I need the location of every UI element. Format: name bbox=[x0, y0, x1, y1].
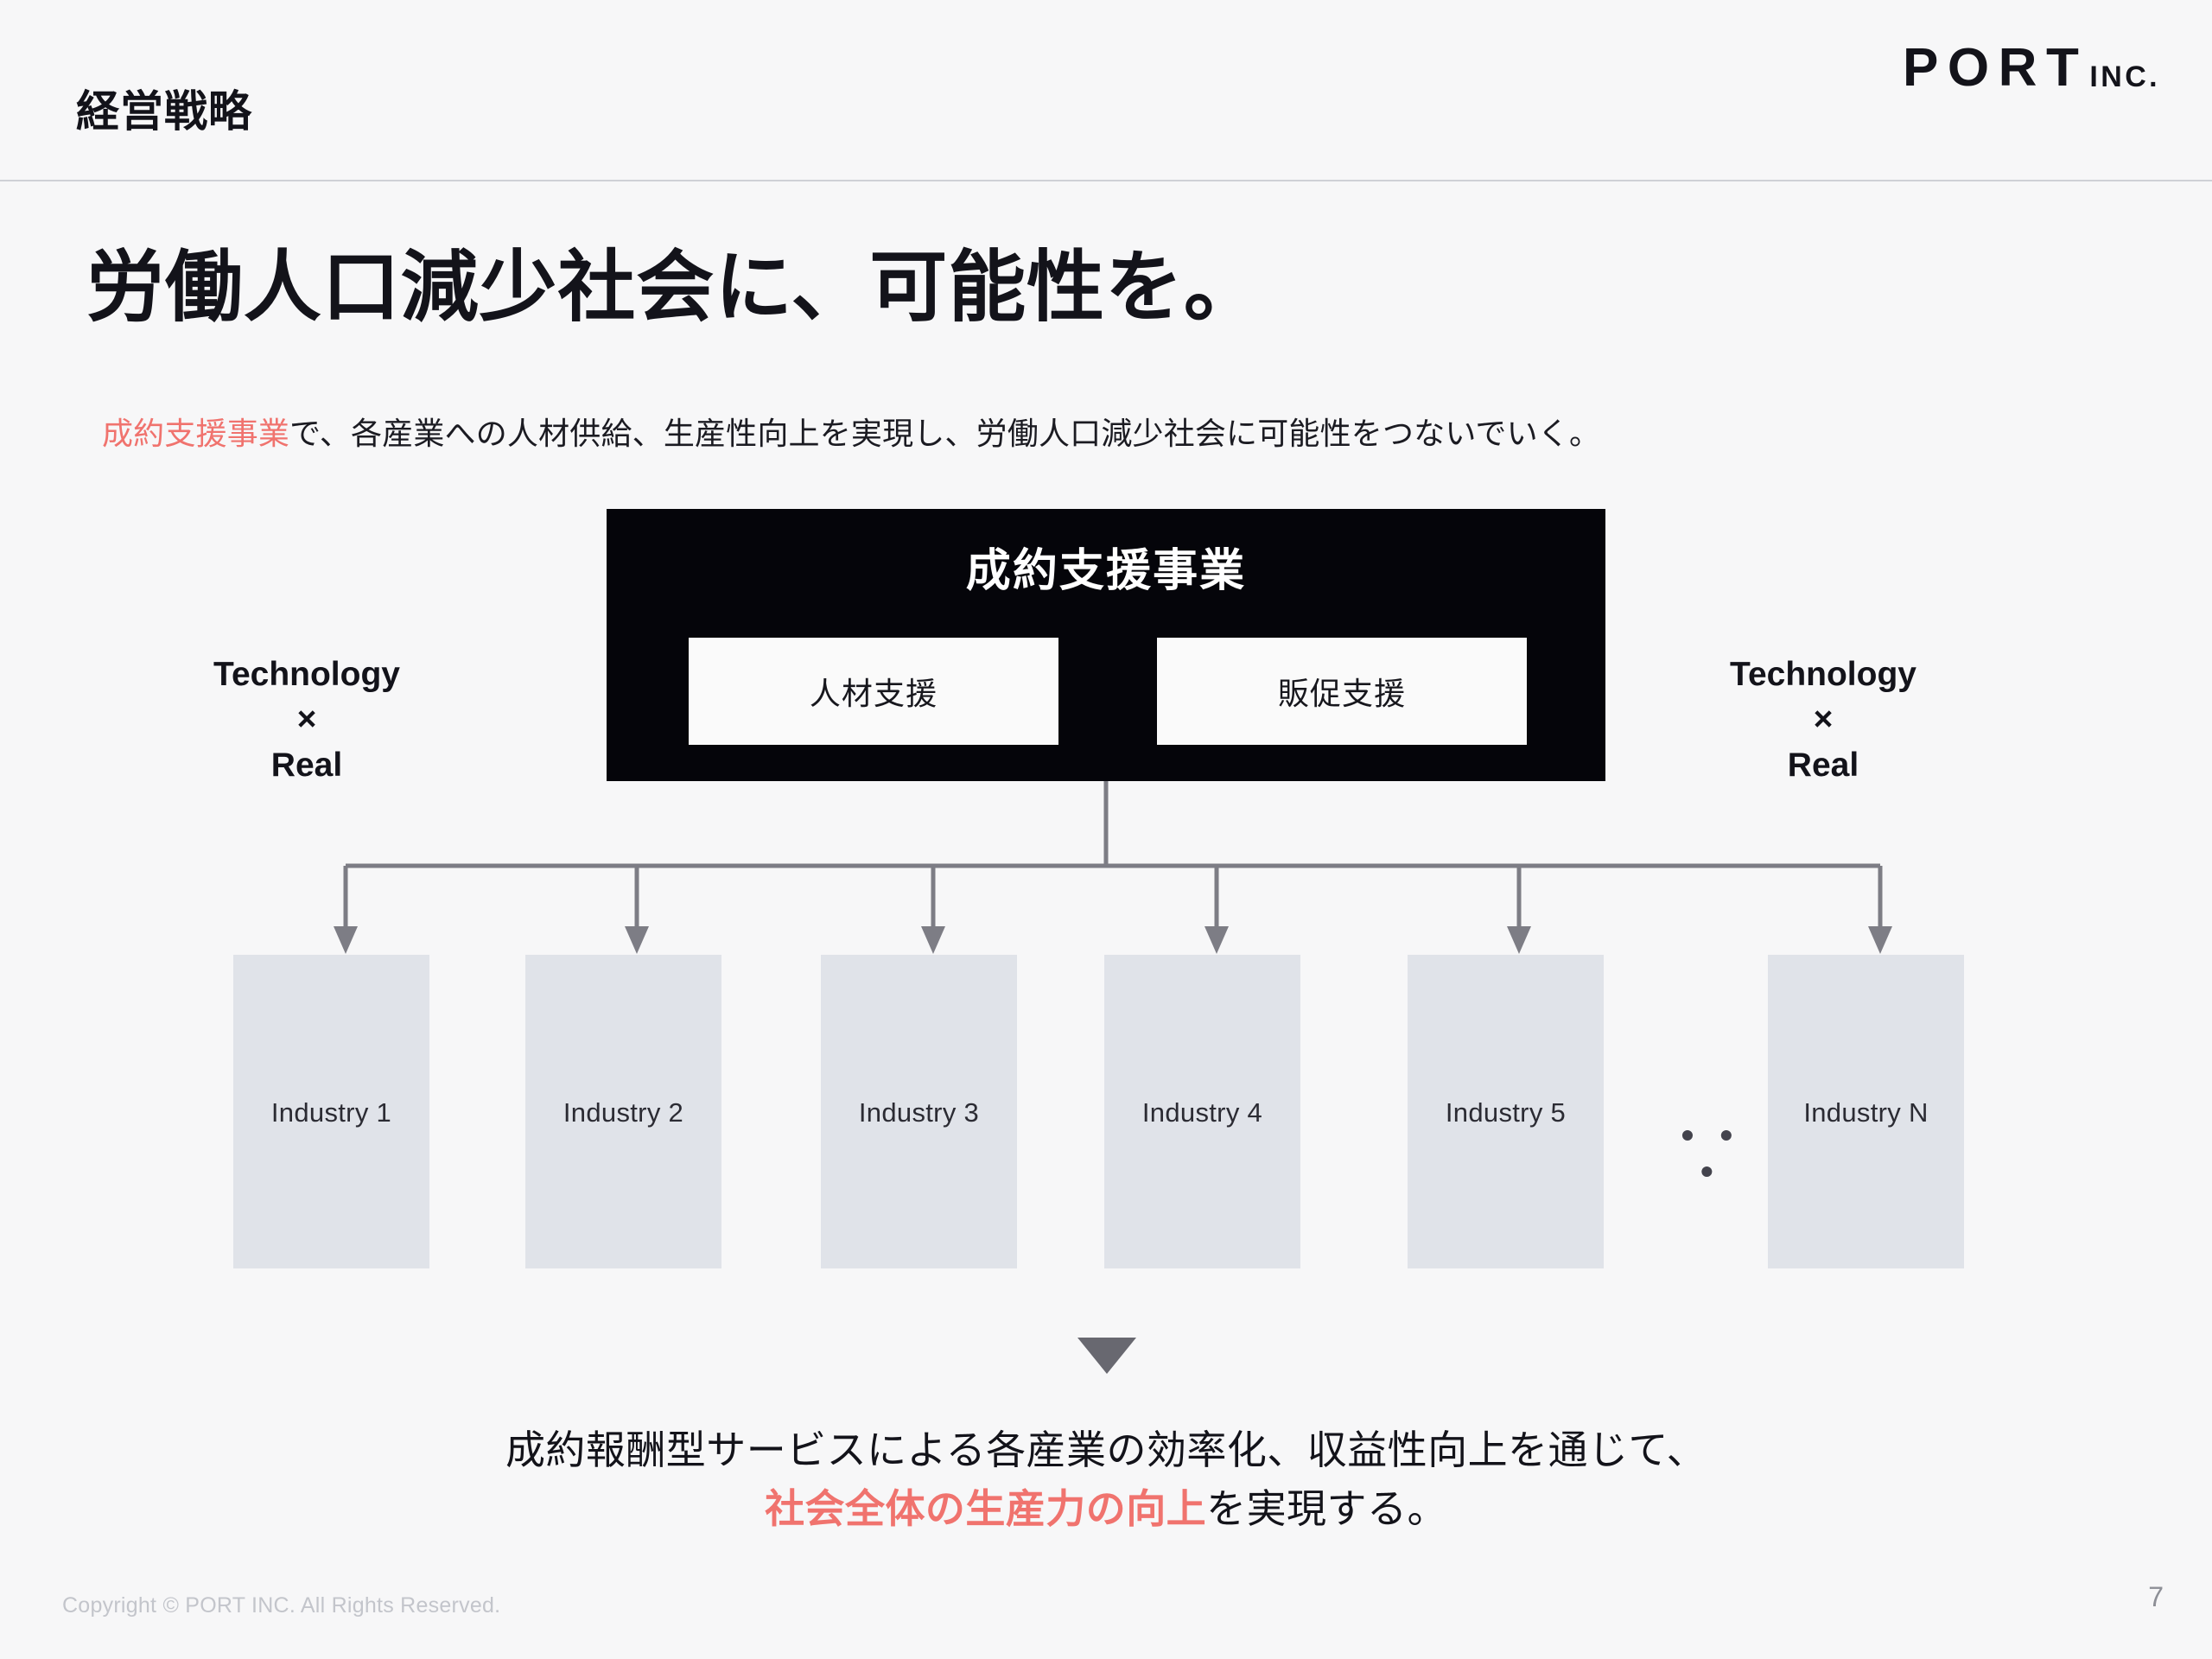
conclusion-text: 成約報酬型サービスによる各産業の効率化、収益性向上を通じて、 社会全体の生産力の… bbox=[0, 1421, 2212, 1538]
conclusion-line-2-rest: を実現する。 bbox=[1206, 1486, 1447, 1531]
side-label-left: Technology × Real bbox=[164, 652, 449, 788]
side-label-left-line2: × bbox=[164, 697, 449, 742]
industry-label: Industry 1 bbox=[271, 1099, 391, 1126]
side-label-right-line1: Technology bbox=[1681, 652, 1966, 697]
industry-ellipsis: • • • bbox=[1672, 1117, 1750, 1190]
industry-box-4: Industry 4 bbox=[1104, 955, 1300, 1268]
industry-label: Industry N bbox=[1803, 1099, 1928, 1126]
industry-box-3: Industry 3 bbox=[821, 955, 1017, 1268]
side-label-right-line3: Real bbox=[1681, 743, 1966, 788]
business-block-title: 成約支援事業 bbox=[607, 549, 1605, 594]
down-arrow-icon bbox=[1077, 1338, 1136, 1374]
page-number: 7 bbox=[2148, 1581, 2164, 1613]
side-label-right-line2: × bbox=[1681, 697, 1966, 742]
industry-label: Industry 4 bbox=[1142, 1099, 1262, 1126]
business-sub-jinzai[interactable]: 人材支援 bbox=[689, 638, 1058, 745]
business-block: 成約支援事業 人材支援 販促支援 bbox=[607, 509, 1605, 781]
business-sub-hansoku[interactable]: 販促支援 bbox=[1157, 638, 1527, 745]
industry-label: Industry 3 bbox=[859, 1099, 979, 1126]
industry-box-1: Industry 1 bbox=[233, 955, 429, 1268]
side-label-left-line3: Real bbox=[164, 743, 449, 788]
industry-box-5: Industry 5 bbox=[1408, 955, 1604, 1268]
industry-box-2: Industry 2 bbox=[525, 955, 721, 1268]
connector-diagram bbox=[0, 0, 2212, 1659]
conclusion-line-2: 社会全体の生産力の向上を実現する。 bbox=[0, 1479, 2212, 1538]
industry-label: Industry 5 bbox=[1446, 1099, 1566, 1126]
side-label-right: Technology × Real bbox=[1681, 652, 1966, 788]
industry-box-n: Industry N bbox=[1768, 955, 1964, 1268]
conclusion-accent-phrase: 社会全体の生産力の向上 bbox=[765, 1486, 1206, 1531]
industry-label: Industry 2 bbox=[563, 1099, 683, 1126]
slide-root: 経営戦略 PORT INC. 労働人口減少社会に、可能性を。 成約支援事業で、各… bbox=[0, 0, 2212, 1659]
conclusion-line-1: 成約報酬型サービスによる各産業の効率化、収益性向上を通じて、 bbox=[0, 1421, 2212, 1479]
copyright-notice: Copyright © PORT INC. All Rights Reserve… bbox=[62, 1593, 500, 1618]
side-label-left-line1: Technology bbox=[164, 652, 449, 697]
